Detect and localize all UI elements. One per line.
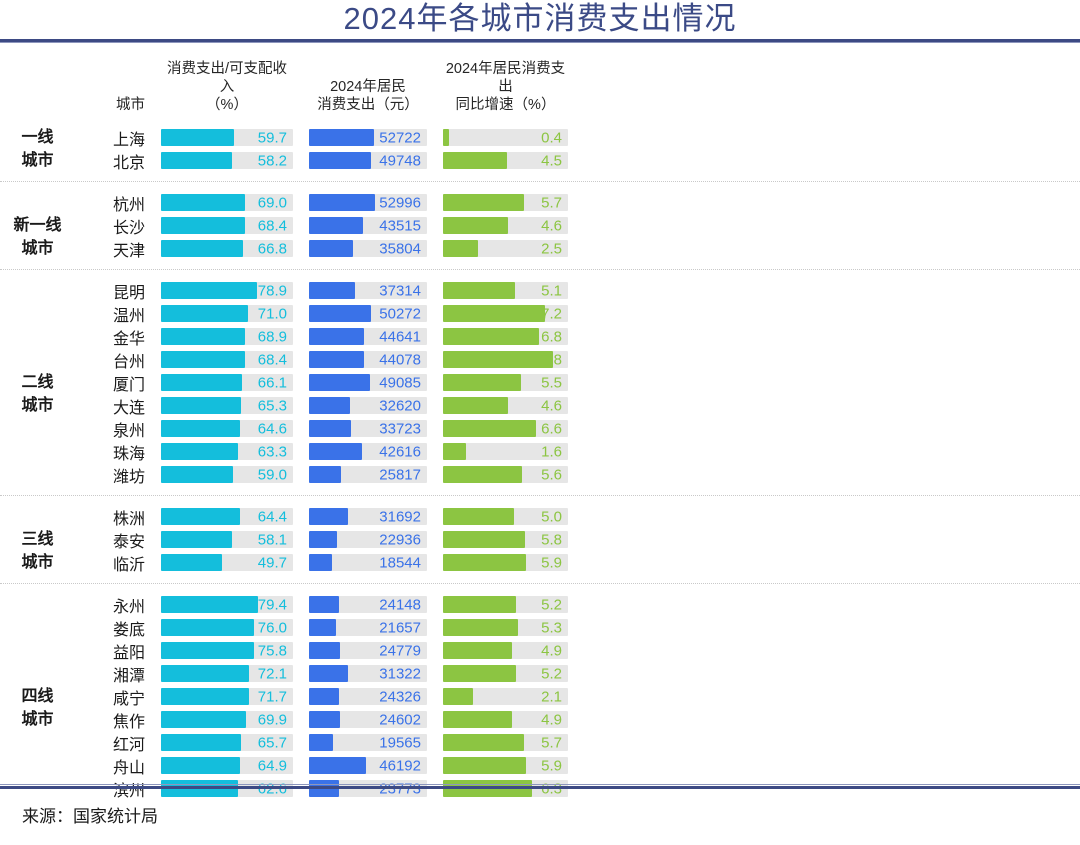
bar-track: 43515 xyxy=(309,217,427,234)
bar-fill xyxy=(309,217,363,234)
header-col-ratio: 消费支出/可支配收入 （%） xyxy=(161,60,293,114)
city-tier-group: 永州79.4241485.2娄底76.0216575.3益阳75.8247794… xyxy=(0,589,1080,804)
bar-track: 35804 xyxy=(309,240,427,257)
bar-cell: 7.8 xyxy=(443,351,568,368)
bar-cell: 31692 xyxy=(309,508,427,525)
bar-cell: 71.0 xyxy=(161,305,293,322)
bar-fill xyxy=(309,642,340,659)
bar-value: 42616 xyxy=(379,444,421,459)
table-row: 城市焦作69.9246024.9 xyxy=(0,708,1080,731)
bar-value: 6.6 xyxy=(541,421,562,436)
bar-track: 19565 xyxy=(309,734,427,751)
bar-fill xyxy=(443,554,526,571)
bar-track: 68.4 xyxy=(161,351,293,368)
bar-fill xyxy=(443,642,512,659)
group-label: 四线 xyxy=(0,687,75,706)
bar-cell: 24779 xyxy=(309,642,427,659)
bar-track: 2.1 xyxy=(443,688,568,705)
table-row: 昆明78.9373145.1 xyxy=(0,279,1080,302)
bar-fill xyxy=(309,508,348,525)
bar-cell: 59.0 xyxy=(161,466,293,483)
bar-value: 72.1 xyxy=(258,666,287,681)
bar-fill xyxy=(161,374,242,391)
bar-cell: 79.4 xyxy=(161,596,293,613)
bar-track: 21657 xyxy=(309,619,427,636)
bar-track: 5.7 xyxy=(443,194,568,211)
header-col-expense: 2024年居民 消费支出（元） xyxy=(309,78,427,114)
bar-fill xyxy=(443,665,516,682)
city-label: 金华 xyxy=(75,325,161,349)
bar-cell: 49748 xyxy=(309,152,427,169)
bar-value: 64.9 xyxy=(258,758,287,773)
title-bar: 2024年各城市消费支出情况 xyxy=(0,0,1080,39)
bar-value: 63.3 xyxy=(258,444,287,459)
table-row: 株洲64.4316925.0 xyxy=(0,505,1080,528)
bar-value: 4.6 xyxy=(541,218,562,233)
city-label: 北京 xyxy=(75,149,161,173)
bar-track: 65.7 xyxy=(161,734,293,751)
city-label: 泰安 xyxy=(75,528,161,552)
bar-value: 0.4 xyxy=(541,130,562,145)
bar-track: 32620 xyxy=(309,397,427,414)
bar-track: 66.1 xyxy=(161,374,293,391)
bar-track: 4.5 xyxy=(443,152,568,169)
bar-fill xyxy=(443,397,508,414)
bar-cell: 76.0 xyxy=(161,619,293,636)
bar-fill xyxy=(443,305,545,322)
bar-track: 52722 xyxy=(309,129,427,146)
table-row: 城市北京58.2497484.5 xyxy=(0,149,1080,172)
bar-cell: 32620 xyxy=(309,397,427,414)
bar-fill xyxy=(309,711,340,728)
city-label: 益阳 xyxy=(75,639,161,663)
bar-cell: 5.2 xyxy=(443,665,568,682)
bar-fill xyxy=(161,466,233,483)
page-title: 2024年各城市消费支出情况 xyxy=(344,0,737,38)
bar-fill xyxy=(309,397,350,414)
city-tier-group: 株洲64.4316925.0三线泰安58.1229365.8城市临沂49.718… xyxy=(0,501,1080,578)
bar-value: 59.7 xyxy=(258,130,287,145)
bar-track: 2.5 xyxy=(443,240,568,257)
city-label: 温州 xyxy=(75,302,161,326)
header-col-growth: 2024年居民消费支出 同比增速（%） xyxy=(443,60,568,114)
city-label: 珠海 xyxy=(75,440,161,464)
bar-value: 18544 xyxy=(379,555,421,570)
bar-value: 5.9 xyxy=(541,555,562,570)
bar-cell: 49.7 xyxy=(161,554,293,571)
bar-cell: 44641 xyxy=(309,328,427,345)
table-row: 杭州69.0529965.7 xyxy=(0,191,1080,214)
bar-cell: 5.7 xyxy=(443,194,568,211)
bar-cell: 71.7 xyxy=(161,688,293,705)
group-label: 城市 xyxy=(0,553,75,572)
bar-cell: 4.9 xyxy=(443,642,568,659)
bar-fill xyxy=(309,152,371,169)
city-label: 昆明 xyxy=(75,279,161,303)
bar-cell: 4.9 xyxy=(443,711,568,728)
bar-value: 5.2 xyxy=(541,597,562,612)
bar-cell: 66.8 xyxy=(161,240,293,257)
bar-cell: 52996 xyxy=(309,194,427,211)
bar-value: 1.6 xyxy=(541,444,562,459)
bar-value: 5.7 xyxy=(541,735,562,750)
bar-cell: 0.4 xyxy=(443,129,568,146)
group-separator xyxy=(0,181,1080,182)
title-rule-thin xyxy=(0,42,1080,43)
bar-value: 58.1 xyxy=(258,532,287,547)
bar-cell: 7.2 xyxy=(443,305,568,322)
bar-value: 79.4 xyxy=(258,597,287,612)
city-label: 长沙 xyxy=(75,214,161,238)
bar-track: 5.2 xyxy=(443,665,568,682)
bar-value: 5.3 xyxy=(541,620,562,635)
bar-cell: 64.9 xyxy=(161,757,293,774)
bar-track: 4.9 xyxy=(443,711,568,728)
bar-fill xyxy=(443,328,539,345)
bar-value: 4.9 xyxy=(541,643,562,658)
header-col-ratio-line2: （%） xyxy=(161,96,293,114)
bar-cell: 22936 xyxy=(309,531,427,548)
city-label: 株洲 xyxy=(75,505,161,529)
table-row: 永州79.4241485.2 xyxy=(0,593,1080,616)
bar-cell: 5.2 xyxy=(443,596,568,613)
bar-track: 6.8 xyxy=(443,328,568,345)
city-tier-group: 一线上海59.7527220.4城市北京58.2497484.5 xyxy=(0,122,1080,176)
bar-track: 63.3 xyxy=(161,443,293,460)
bar-cell: 66.1 xyxy=(161,374,293,391)
group-label: 城市 xyxy=(0,239,75,258)
bar-value: 59.0 xyxy=(258,467,287,482)
bar-fill xyxy=(443,531,525,548)
bar-fill xyxy=(443,443,466,460)
bar-cell: 5.6 xyxy=(443,466,568,483)
bar-fill xyxy=(161,152,232,169)
city-label: 红河 xyxy=(75,731,161,755)
bar-value: 5.9 xyxy=(541,758,562,773)
bar-cell: 58.2 xyxy=(161,152,293,169)
city-label: 潍坊 xyxy=(75,463,161,487)
city-label: 娄底 xyxy=(75,616,161,640)
bar-cell: 6.8 xyxy=(443,328,568,345)
bar-value: 4.9 xyxy=(541,712,562,727)
bar-track: 52996 xyxy=(309,194,427,211)
bar-fill xyxy=(161,397,241,414)
table-row: 城市大连65.3326204.6 xyxy=(0,394,1080,417)
bar-fill xyxy=(161,554,222,571)
bar-track: 64.6 xyxy=(161,420,293,437)
header-col-growth-line2: 同比增速（%） xyxy=(443,96,568,114)
bar-value: 50272 xyxy=(379,306,421,321)
bar-track: 33723 xyxy=(309,420,427,437)
bar-value: 52722 xyxy=(379,130,421,145)
table-row: 一线上海59.7527220.4 xyxy=(0,126,1080,149)
bar-fill xyxy=(443,688,473,705)
city-label: 台州 xyxy=(75,348,161,372)
bar-fill xyxy=(161,282,257,299)
bar-track: 37314 xyxy=(309,282,427,299)
bar-cell: 6.6 xyxy=(443,420,568,437)
bar-fill xyxy=(309,554,332,571)
bar-track: 25817 xyxy=(309,466,427,483)
bar-value: 5.5 xyxy=(541,375,562,390)
table-row: 泉州64.6337236.6 xyxy=(0,417,1080,440)
bar-value: 19565 xyxy=(379,735,421,750)
table-row: 温州71.0502727.2 xyxy=(0,302,1080,325)
bar-value: 78.9 xyxy=(258,283,287,298)
city-label: 湘潭 xyxy=(75,662,161,686)
bar-value: 7.2 xyxy=(541,306,562,321)
bar-cell: 64.6 xyxy=(161,420,293,437)
bar-fill xyxy=(443,711,512,728)
bar-cell: 5.7 xyxy=(443,734,568,751)
bar-value: 68.9 xyxy=(258,329,287,344)
city-label: 厦门 xyxy=(75,371,161,395)
bar-track: 66.8 xyxy=(161,240,293,257)
bar-track: 78.9 xyxy=(161,282,293,299)
bar-cell: 49085 xyxy=(309,374,427,391)
bar-value: 69.0 xyxy=(258,195,287,210)
bar-track: 68.4 xyxy=(161,217,293,234)
bar-track: 5.9 xyxy=(443,554,568,571)
group-label: 三线 xyxy=(0,530,75,549)
bar-cell: 18544 xyxy=(309,554,427,571)
data-table: 城市 消费支出/可支配收入 （%） 2024年居民 消费支出（元） 2024年居… xyxy=(0,60,1080,804)
bar-cell: 5.8 xyxy=(443,531,568,548)
bar-cell: 75.8 xyxy=(161,642,293,659)
bar-fill xyxy=(443,152,507,169)
bar-value: 71.0 xyxy=(258,306,287,321)
bar-cell: 5.9 xyxy=(443,554,568,571)
bar-fill xyxy=(443,619,518,636)
group-label: 城市 xyxy=(0,710,75,729)
bar-track: 49.7 xyxy=(161,554,293,571)
city-label: 焦作 xyxy=(75,708,161,732)
footer-rules xyxy=(0,784,1080,789)
bar-track: 4.6 xyxy=(443,397,568,414)
bar-value: 5.7 xyxy=(541,195,562,210)
bar-cell: 2.1 xyxy=(443,688,568,705)
city-label: 舟山 xyxy=(75,754,161,778)
bar-cell: 31322 xyxy=(309,665,427,682)
bar-fill xyxy=(161,711,246,728)
bar-fill xyxy=(161,757,240,774)
city-label: 永州 xyxy=(75,593,161,617)
bar-track: 24326 xyxy=(309,688,427,705)
bar-fill xyxy=(161,734,241,751)
bar-fill xyxy=(443,374,521,391)
bar-fill xyxy=(443,240,478,257)
bar-track: 5.5 xyxy=(443,374,568,391)
bar-cell: 33723 xyxy=(309,420,427,437)
city-label: 上海 xyxy=(75,126,161,150)
bar-fill xyxy=(309,665,348,682)
bar-value: 25817 xyxy=(379,467,421,482)
bar-track: 58.2 xyxy=(161,152,293,169)
bar-value: 32620 xyxy=(379,398,421,413)
bar-fill xyxy=(309,240,353,257)
bar-track: 24602 xyxy=(309,711,427,728)
bar-track: 44641 xyxy=(309,328,427,345)
table-row: 台州68.4440787.8 xyxy=(0,348,1080,371)
bar-value: 44641 xyxy=(379,329,421,344)
bar-value: 31692 xyxy=(379,509,421,524)
bar-fill xyxy=(309,351,364,368)
bar-cell: 63.3 xyxy=(161,443,293,460)
bar-value: 22936 xyxy=(379,532,421,547)
bar-value: 69.9 xyxy=(258,712,287,727)
bar-fill xyxy=(443,757,526,774)
bar-track: 24148 xyxy=(309,596,427,613)
group-label: 城市 xyxy=(0,396,75,415)
city-label: 大连 xyxy=(75,394,161,418)
bar-cell: 68.4 xyxy=(161,217,293,234)
header-col-ratio-line1: 消费支出/可支配收入 xyxy=(161,60,293,96)
bar-fill xyxy=(309,420,351,437)
bar-value: 49748 xyxy=(379,153,421,168)
bar-value: 4.6 xyxy=(541,398,562,413)
table-row: 二线厦门66.1490855.5 xyxy=(0,371,1080,394)
bar-track: 71.7 xyxy=(161,688,293,705)
bar-track: 59.0 xyxy=(161,466,293,483)
bar-cell: 1.6 xyxy=(443,443,568,460)
bar-value: 31322 xyxy=(379,666,421,681)
table-header-row: 城市 消费支出/可支配收入 （%） 2024年居民 消费支出（元） 2024年居… xyxy=(0,60,1080,122)
bar-track: 71.0 xyxy=(161,305,293,322)
table-row: 益阳75.8247794.9 xyxy=(0,639,1080,662)
bar-fill xyxy=(309,305,371,322)
bar-value: 33723 xyxy=(379,421,421,436)
bar-cell: 4.6 xyxy=(443,397,568,414)
bar-track: 7.2 xyxy=(443,305,568,322)
bar-cell: 64.4 xyxy=(161,508,293,525)
group-separator xyxy=(0,495,1080,496)
bar-track: 5.8 xyxy=(443,531,568,548)
table-row: 金华68.9446416.8 xyxy=(0,325,1080,348)
bar-cell: 65.3 xyxy=(161,397,293,414)
bar-cell: 25817 xyxy=(309,466,427,483)
bar-track: 4.6 xyxy=(443,217,568,234)
bar-fill xyxy=(309,443,362,460)
bar-fill xyxy=(161,508,240,525)
bar-fill xyxy=(309,734,333,751)
bar-value: 65.7 xyxy=(258,735,287,750)
bar-value: 5.2 xyxy=(541,666,562,681)
bar-fill xyxy=(309,194,375,211)
bar-value: 52996 xyxy=(379,195,421,210)
bar-fill xyxy=(443,194,524,211)
bar-value: 71.7 xyxy=(258,689,287,704)
bar-cell: 35804 xyxy=(309,240,427,257)
bar-cell: 19565 xyxy=(309,734,427,751)
header-col-expense-line2: 消费支出（元） xyxy=(309,96,427,114)
bar-fill xyxy=(443,734,524,751)
bar-track: 72.1 xyxy=(161,665,293,682)
bar-cell: 44078 xyxy=(309,351,427,368)
bar-fill xyxy=(309,282,355,299)
bar-track: 5.2 xyxy=(443,596,568,613)
bar-fill xyxy=(309,757,366,774)
bar-track: 50272 xyxy=(309,305,427,322)
bar-value: 2.1 xyxy=(541,689,562,704)
bar-fill xyxy=(161,351,245,368)
table-row: 城市天津66.8358042.5 xyxy=(0,237,1080,260)
bar-fill xyxy=(161,240,243,257)
table-row: 潍坊59.0258175.6 xyxy=(0,463,1080,486)
bar-cell: 24148 xyxy=(309,596,427,613)
bar-cell: 24602 xyxy=(309,711,427,728)
bar-fill xyxy=(309,596,339,613)
bar-cell: 58.1 xyxy=(161,531,293,548)
bar-cell: 52722 xyxy=(309,129,427,146)
bar-track: 1.6 xyxy=(443,443,568,460)
bar-value: 6.8 xyxy=(541,329,562,344)
bar-track: 5.9 xyxy=(443,757,568,774)
bar-value: 65.3 xyxy=(258,398,287,413)
footer-rule-thin xyxy=(0,784,1080,785)
bar-cell: 37314 xyxy=(309,282,427,299)
bar-fill xyxy=(309,619,336,636)
bar-cell: 68.9 xyxy=(161,328,293,345)
group-label: 一线 xyxy=(0,128,75,147)
group-label: 二线 xyxy=(0,373,75,392)
bar-track: 5.0 xyxy=(443,508,568,525)
bar-value: 49.7 xyxy=(258,555,287,570)
bar-value: 5.1 xyxy=(541,283,562,298)
city-tier-group: 昆明78.9373145.1温州71.0502727.2金华68.9446416… xyxy=(0,275,1080,490)
bar-track: 5.3 xyxy=(443,619,568,636)
bar-fill xyxy=(443,420,536,437)
header-col-growth-line1: 2024年居民消费支出 xyxy=(443,60,568,96)
bar-fill xyxy=(161,619,254,636)
header-col-expense-line1: 2024年居民 xyxy=(309,78,427,96)
bar-value: 5.8 xyxy=(541,532,562,547)
bar-value: 64.4 xyxy=(258,509,287,524)
bar-cell: 4.6 xyxy=(443,217,568,234)
bar-track: 69.9 xyxy=(161,711,293,728)
bar-fill xyxy=(161,305,248,322)
bar-value: 46192 xyxy=(379,758,421,773)
bar-track: 7.8 xyxy=(443,351,568,368)
bar-fill xyxy=(161,217,245,234)
bar-track: 5.1 xyxy=(443,282,568,299)
bar-track: 46192 xyxy=(309,757,427,774)
bar-cell: 21657 xyxy=(309,619,427,636)
city-tier-group: 杭州69.0529965.7新一线长沙68.4435154.6城市天津66.83… xyxy=(0,187,1080,264)
table-row: 红河65.7195655.7 xyxy=(0,731,1080,754)
bar-value: 5.6 xyxy=(541,467,562,482)
bar-fill xyxy=(161,328,245,345)
table-row: 新一线长沙68.4435154.6 xyxy=(0,214,1080,237)
bar-value: 4.5 xyxy=(541,153,562,168)
group-separator xyxy=(0,583,1080,584)
footer-rule-thick xyxy=(0,786,1080,789)
table-row: 四线咸宁71.7243262.1 xyxy=(0,685,1080,708)
bar-value: 24602 xyxy=(379,712,421,727)
bar-track: 64.9 xyxy=(161,757,293,774)
bar-fill xyxy=(443,282,515,299)
bar-track: 6.6 xyxy=(443,420,568,437)
bar-fill xyxy=(309,374,370,391)
bar-track: 31692 xyxy=(309,508,427,525)
bar-fill xyxy=(161,531,232,548)
bar-track: 22936 xyxy=(309,531,427,548)
bar-value: 5.0 xyxy=(541,509,562,524)
group-label: 城市 xyxy=(0,151,75,170)
bar-track: 69.0 xyxy=(161,194,293,211)
bar-value: 7.8 xyxy=(541,352,562,367)
bar-fill xyxy=(443,596,516,613)
bar-value: 68.4 xyxy=(258,218,287,233)
